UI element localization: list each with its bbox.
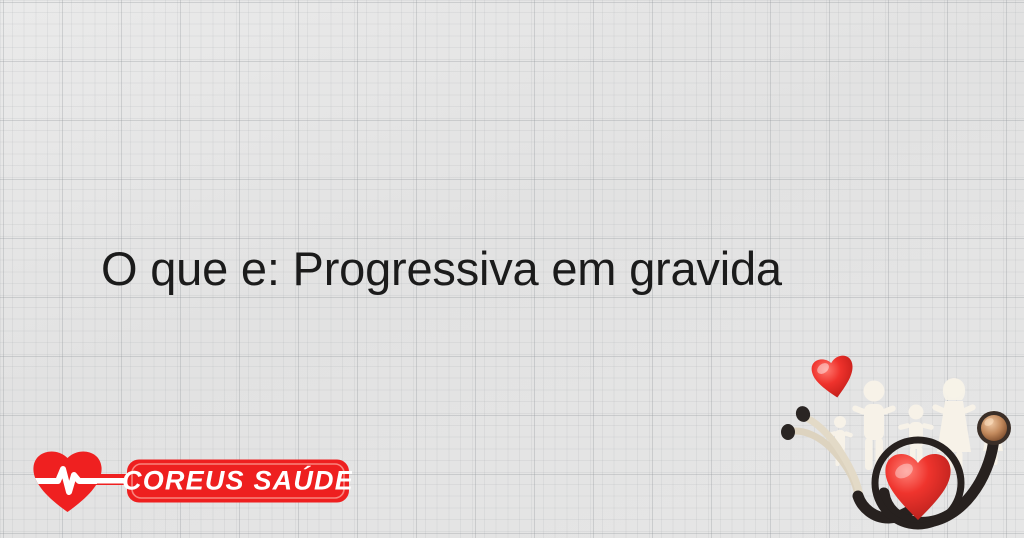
health-family-illustration — [780, 350, 1024, 538]
page-title: O que e: Progressiva em gravida — [101, 239, 782, 299]
brand-logo[interactable]: COREUS SAÚDE — [27, 448, 352, 516]
figure-adult-male — [851, 381, 896, 471]
stethoscope-chestpiece — [977, 411, 1011, 445]
ear-tip-left — [781, 424, 795, 440]
small-heart-icon — [810, 354, 857, 401]
brand-name-pill[interactable]: COREUS SAÚDE — [122, 460, 352, 503]
slide-canvas: O que e: Progressiva em gravida — [0, 0, 1024, 538]
brand-name-label: COREUS SAÚDE — [122, 465, 352, 496]
